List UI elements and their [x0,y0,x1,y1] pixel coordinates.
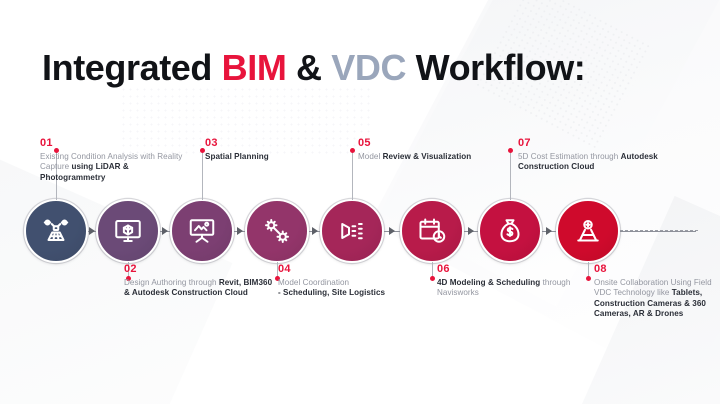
node-marker-dot-07 [508,148,513,153]
node-circle-06 [400,199,464,263]
node-circle-05 [320,199,384,263]
money-bag-icon [495,216,525,246]
step-number-02: 02 [124,263,274,275]
step-label-03: 03Spatial Planning [205,137,355,162]
step-number-05: 05 [358,137,508,149]
timeline-arrow-06 [468,227,474,235]
timeline-axis-dashed-tail [620,230,698,231]
step-text-regular-04: Model Coordination [278,278,349,287]
drone-survey-icon [41,216,71,246]
node-stem-07 [510,150,511,200]
timeline-arrow-05 [389,227,395,235]
workflow-node-04[interactable] [245,199,309,263]
node-marker-dot-06 [430,276,435,281]
step-description-03: Spatial Planning [205,152,355,162]
step-description-02: Design Authoring through Revit, BIM360 &… [124,278,274,299]
step-description-08: Onsite Collaboration Using Field VDC Tec… [594,278,718,320]
workflow-node-07[interactable] [478,199,542,263]
calendar-clock-icon [417,216,447,246]
step-number-07: 07 [518,137,670,149]
timeline-arrow-07 [546,227,552,235]
node-stem-03 [202,150,203,200]
workflow-node-08[interactable] [556,199,620,263]
timeline-arrow-03 [237,227,243,235]
step-text-bold-03: Spatial Planning [205,152,269,161]
step-text-regular-07: 5D Cost Estimation through [518,152,621,161]
step-text-regular-05: Model [358,152,383,161]
node-circle-04 [245,199,309,263]
step-description-07: 5D Cost Estimation through Autodesk Cons… [518,152,670,173]
workflow-node-06[interactable] [400,199,464,263]
step-label-04: 04Model Coordination- Scheduling, Site L… [278,263,428,299]
onsite-tablet-icon [573,216,603,246]
presentation-board-icon [187,216,217,246]
node-circle-03 [170,199,234,263]
step-number-04: 04 [278,263,428,275]
step-description-05: Model Review & Visualization [358,152,508,162]
step-text-bold-06: 4D Modeling & Scheduling [437,278,540,287]
step-label-01: 01Existing Condition Analysis with Reali… [40,137,192,183]
step-label-07: 075D Cost Estimation through Autodesk Co… [518,137,670,173]
node-circle-07 [478,199,542,263]
step-label-02: 02Design Authoring through Revit, BIM360… [124,263,274,299]
step-number-01: 01 [40,137,192,149]
step-label-08: 08Onsite Collaboration Using Field VDC T… [594,263,718,320]
timeline-arrow-04 [312,227,318,235]
workflow-node-02[interactable] [96,199,160,263]
timeline-arrow-01 [89,227,95,235]
timeline-arrow-02 [162,227,168,235]
step-number-03: 03 [205,137,355,149]
step-description-01: Existing Condition Analysis with Reality… [40,152,192,183]
step-number-08: 08 [594,263,718,275]
workflow-node-05[interactable] [320,199,384,263]
workflow-node-01[interactable] [24,199,88,263]
node-circle-08 [556,199,620,263]
node-circle-01 [24,199,88,263]
step-label-06: 064D Modeling & Scheduling through Navis… [437,263,587,299]
step-text-bold-05: Review & Visualization [383,152,472,161]
monitor-3d-model-icon [113,216,143,246]
workflow-node-03[interactable] [170,199,234,263]
step-description-06: 4D Modeling & Scheduling through Naviswo… [437,278,587,299]
step-text-bold-04: - Scheduling, Site Logistics [278,288,385,297]
step-label-05: 05Model Review & Visualization [358,137,508,162]
step-description-04: Model Coordination- Scheduling, Site Log… [278,278,428,299]
coordination-gears-icon [262,216,292,246]
workflow-timeline: 01Existing Condition Analysis with Reali… [0,0,720,404]
node-circle-02 [96,199,160,263]
visualization-projection-icon [337,216,367,246]
step-text-regular-02: Design Authoring through [124,278,219,287]
step-number-06: 06 [437,263,587,275]
